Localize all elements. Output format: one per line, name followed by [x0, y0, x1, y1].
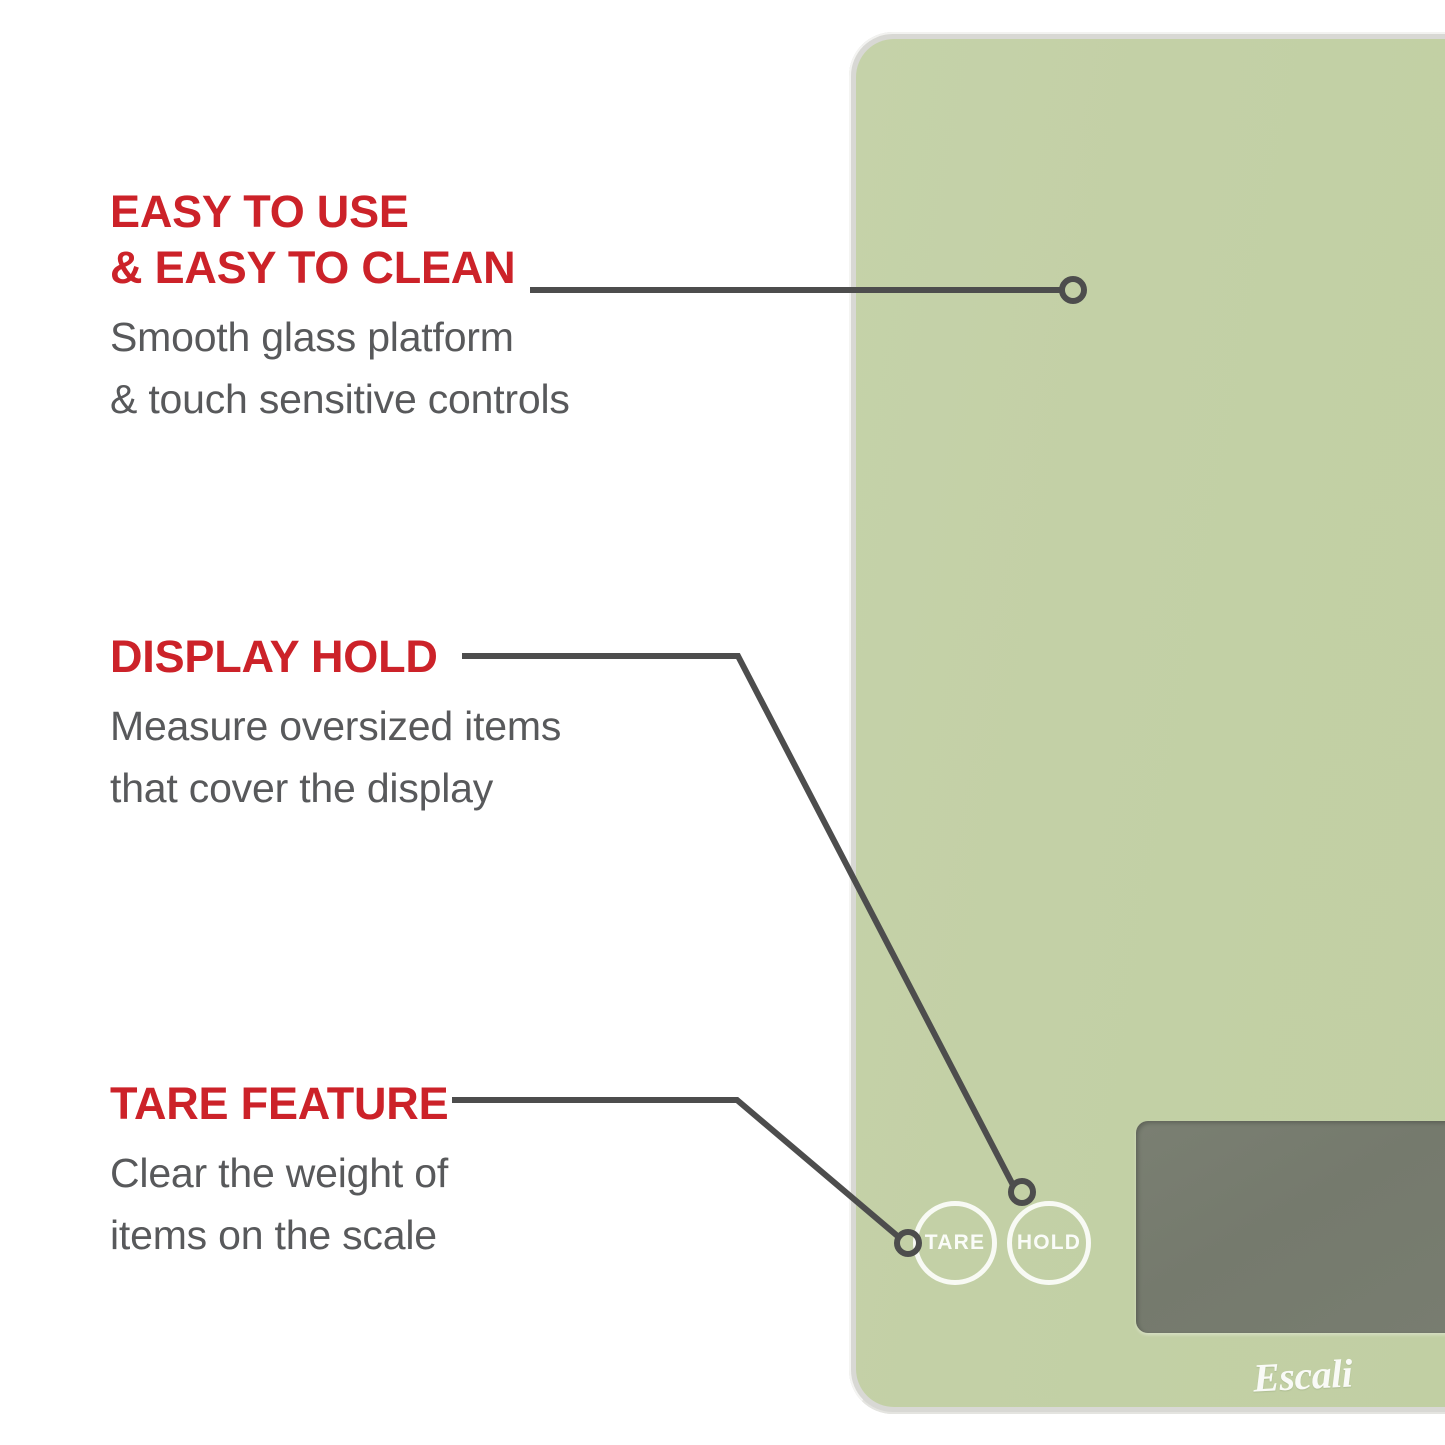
hold-button-label: HOLD [1017, 1231, 1081, 1255]
feature-title-tare-feature: TARE FEATURE [110, 1076, 730, 1132]
tare-button[interactable]: TARE [913, 1201, 997, 1285]
feature-tare-feature: TARE FEATURE Clear the weight of items o… [110, 1076, 730, 1266]
lcd-display [1136, 1121, 1445, 1333]
hold-button[interactable]: HOLD [1007, 1201, 1091, 1285]
infographic-canvas: TARE HOLD Escali EASY TO USE & EASY TO C… [0, 0, 1445, 1445]
feature-body-easy-to-use: Smooth glass platform & touch sensitive … [110, 306, 730, 431]
feature-body-display-hold: Measure oversized items that cover the d… [110, 695, 730, 820]
tare-button-label: TARE [925, 1231, 985, 1255]
escali-brand-logo: Escali [1252, 1349, 1354, 1401]
feature-title-easy-to-use: EASY TO USE & EASY TO CLEAN [110, 184, 730, 296]
feature-body-tare-feature: Clear the weight of items on the scale [110, 1142, 730, 1267]
feature-title-display-hold: DISPLAY HOLD [110, 629, 730, 685]
feature-display-hold: DISPLAY HOLD Measure oversized items tha… [110, 629, 730, 819]
feature-easy-to-use: EASY TO USE & EASY TO CLEAN Smooth glass… [110, 184, 730, 430]
